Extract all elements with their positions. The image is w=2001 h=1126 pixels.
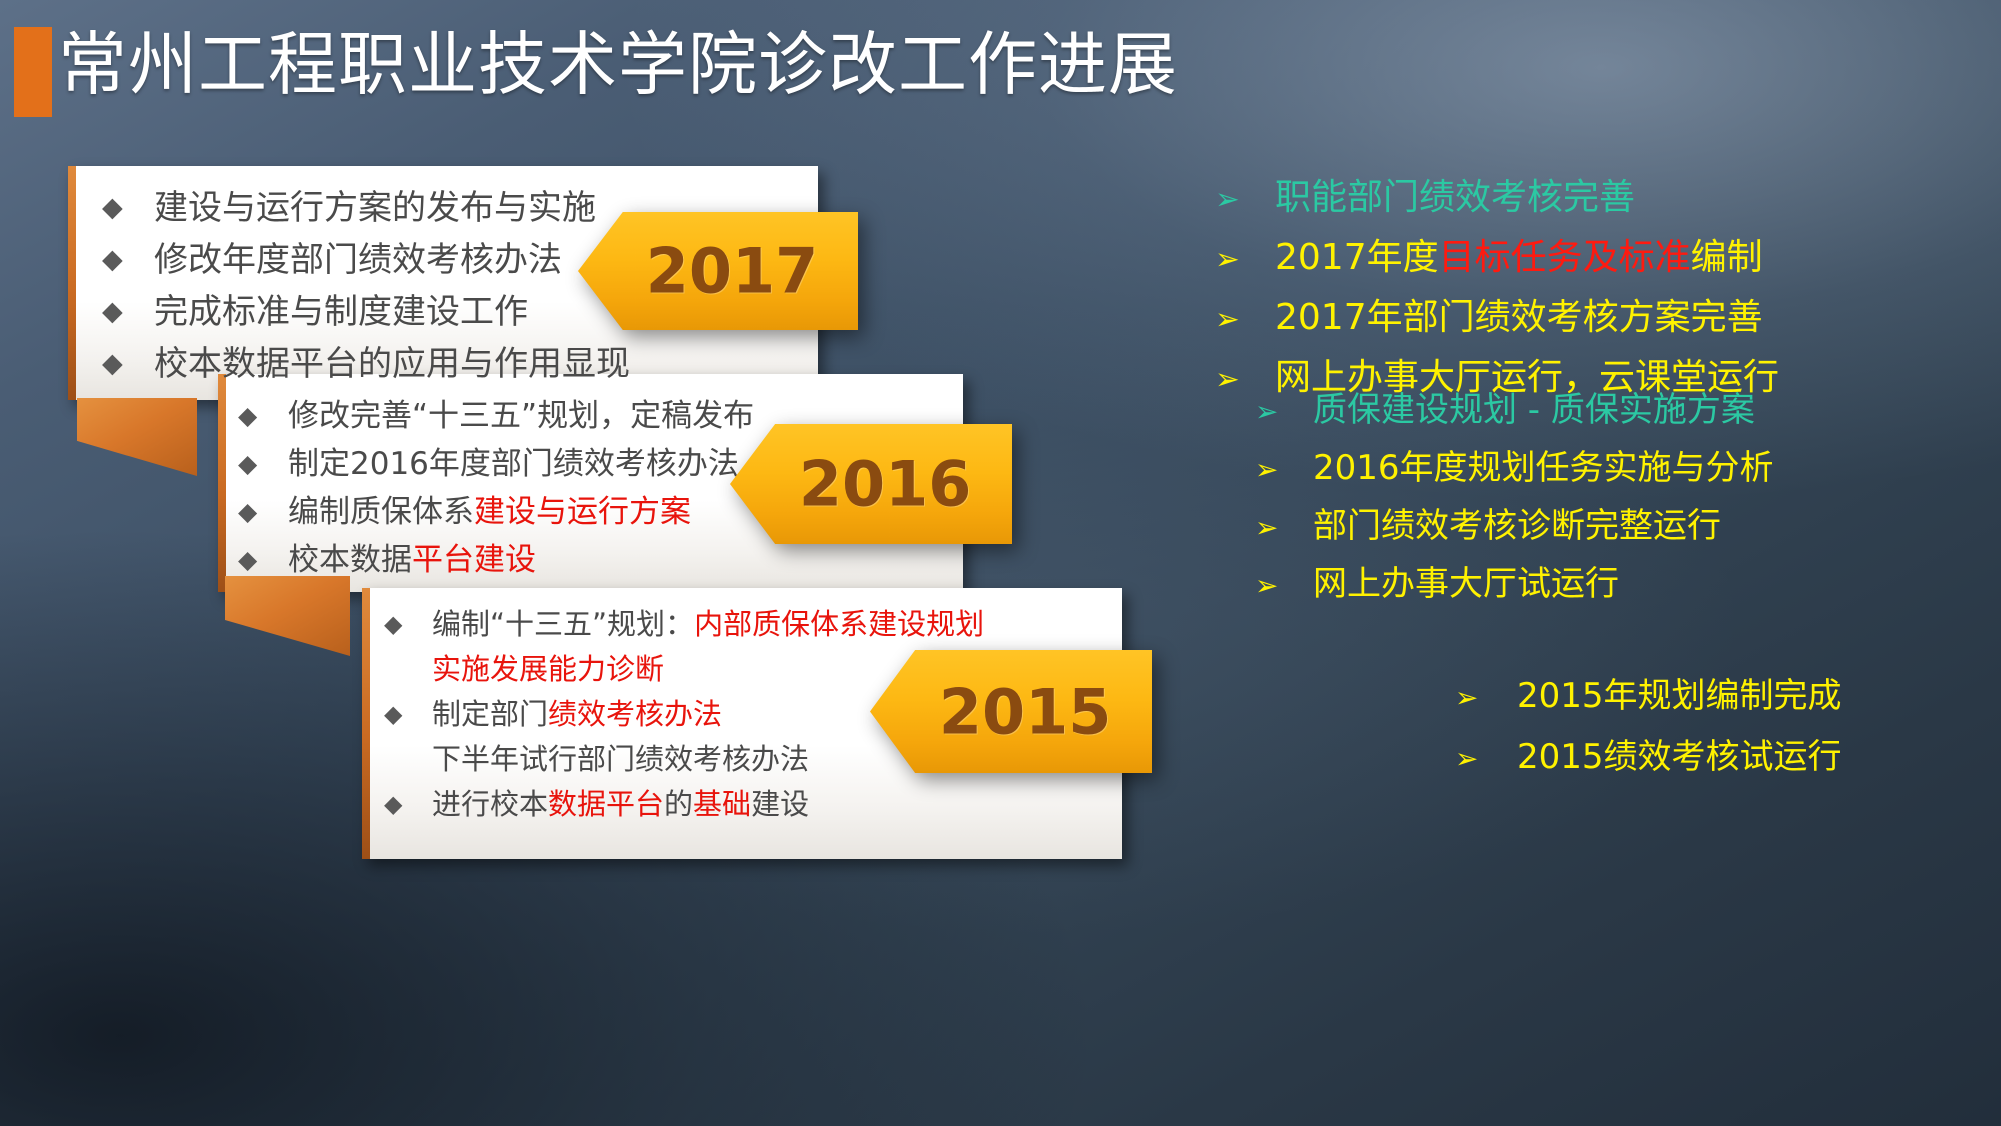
list-item-label: 建设与运行方案的发布与实施 [154, 182, 596, 234]
year-tag-2015-shape: 2015 [870, 650, 1152, 773]
list-item-label-emphasis: 实施发展能力诊断 [432, 647, 664, 692]
diamond-bullet-icon: ◆ [238, 536, 288, 584]
list-item-label: 制定2016年度部门绩效考核办法 [288, 440, 739, 488]
list-item-label: 网上办事大厅试运行 [1313, 557, 1619, 611]
list-item-label-emphasis: 目标任务及标准 [1439, 230, 1691, 286]
diamond-bullet-icon: ◆ [102, 234, 154, 286]
list-item: ➢ 质保建设规划 - 质保实施方案 [1255, 383, 2001, 437]
list-item-label: 2017年度 [1275, 230, 1439, 286]
list-item: ➢ 2015绩效考核试运行 [1455, 729, 2001, 786]
list-item-label: 部门绩效考核诊断完整运行 [1313, 499, 1721, 553]
list-item-label-emphasis: 绩效考核办法 [548, 692, 722, 737]
arrow-bullet-icon: ➢ [1215, 305, 1275, 335]
list-item-label: 编制质保体系 [288, 488, 474, 536]
arrow-bullet-icon: ➢ [1255, 398, 1313, 426]
diamond-bullet-icon: ◆ [102, 286, 154, 338]
list-item-label: 进行校本 [432, 782, 548, 827]
list-item: ➢ 职能部门绩效考核完善 [1215, 170, 2001, 226]
list-item: ➢ 网上办事大厅试运行 [1255, 557, 2001, 611]
arrow-bullet-icon: ➢ [1215, 185, 1275, 215]
year-tag-2015[interactable]: 2015 [870, 650, 1152, 773]
list-item-label: 校本数据 [288, 536, 412, 584]
right-group-2015: ➢ 2015年规划编制完成 ➢ 2015绩效考核试运行 [1455, 668, 2001, 790]
right-group-2017: ➢ 职能部门绩效考核完善 ➢ 2017年度目标任务及标准编制 ➢ 2017年部门… [1215, 170, 2001, 410]
list-item-label: 修改年度部门绩效考核办法 [154, 234, 562, 286]
year-tag-2017-label: 2017 [578, 235, 858, 308]
list-item: ➢ 部门绩效考核诊断完整运行 [1255, 499, 2001, 553]
list-item: ➢ 2017年度目标任务及标准编制 [1215, 230, 2001, 286]
list-item-label: 编制 [1691, 230, 1763, 286]
list-item: ➢ 2016年度规划任务实施与分析 [1255, 441, 2001, 495]
diamond-bullet-icon: ◆ [238, 392, 288, 440]
diamond-bullet-icon: ◆ [384, 602, 432, 647]
list-item-label: 建设 [751, 782, 809, 827]
list-item: ➢ 2017年部门绩效考核方案完善 [1215, 290, 2001, 346]
year-tag-2017-shape: 2017 [578, 212, 858, 330]
list-item-label: 2017年部门绩效考核方案完善 [1275, 290, 1763, 346]
arrow-bullet-icon: ➢ [1255, 572, 1313, 600]
list-item-label: 职能部门绩效考核完善 [1275, 170, 1635, 226]
list-item-label: 质保建设规划 - 质保实施方案 [1313, 383, 1755, 437]
list-item-label-emphasis: 基础 [693, 782, 751, 827]
card-2017-edge [68, 166, 76, 400]
year-tag-2016[interactable]: 2016 [730, 424, 1012, 544]
list-item-label: 完成标准与制度建设工作 [154, 286, 528, 338]
card-2016-edge [218, 374, 226, 592]
diamond-bullet-icon: ◆ [384, 782, 432, 827]
card-2015-edge [362, 588, 370, 859]
list-item: ◆ 编制“十三五”规划：内部质保体系建设规划 [384, 602, 1116, 647]
year-tag-2015-label: 2015 [870, 675, 1152, 748]
arrow-bullet-icon: ➢ [1255, 514, 1313, 542]
list-item-label-emphasis: 建设与运行方案 [474, 488, 691, 536]
diamond-bullet-icon: ◆ [384, 692, 432, 737]
arrow-bullet-icon: ➢ [1255, 456, 1313, 484]
fold-corner-2017 [77, 398, 197, 476]
title-accent-bar [14, 27, 52, 117]
list-item-label: 2015绩效考核试运行 [1517, 729, 1842, 786]
list-item-label: 下半年试行部门绩效考核办法 [432, 737, 809, 782]
list-item-label: 编制“十三五”规划： [432, 602, 694, 647]
list-item-label-emphasis: 平台建设 [412, 536, 536, 584]
list-item-label: 制定部门 [432, 692, 548, 737]
diamond-bullet-icon: ◆ [102, 182, 154, 234]
list-item-label: 的 [664, 782, 693, 827]
year-tag-2016-label: 2016 [730, 448, 1012, 521]
list-item-label-emphasis: 数据平台 [548, 782, 664, 827]
diamond-bullet-icon: ◆ [238, 488, 288, 536]
right-group-2016: ➢ 质保建设规划 - 质保实施方案 ➢ 2016年度规划任务实施与分析 ➢ 部门… [1255, 383, 2001, 615]
diamond-bullet-icon: ◆ [238, 440, 288, 488]
list-item-label: 2016年度规划任务实施与分析 [1313, 441, 1774, 495]
list-item: ◆ 进行校本数据平台的基础建设 [384, 782, 1116, 827]
list-item: ➢ 2015年规划编制完成 [1455, 668, 2001, 725]
list-item-label: 修改完善“十三五”规划，定稿发布 [288, 392, 754, 440]
arrow-bullet-icon: ➢ [1455, 684, 1517, 712]
list-item-label: 2015年规划编制完成 [1517, 668, 1842, 725]
page-title: 常州工程职业技术学院诊改工作进展 [58, 15, 1178, 115]
year-tag-2017[interactable]: 2017 [578, 212, 858, 330]
list-item-label: 校本数据平台的应用与作用显现 [154, 338, 630, 390]
fold-corner-2016 [225, 576, 350, 656]
arrow-bullet-icon: ➢ [1455, 745, 1517, 773]
year-tag-2016-shape: 2016 [730, 424, 1012, 544]
diamond-bullet-icon: ◆ [102, 338, 154, 390]
arrow-bullet-icon: ➢ [1215, 245, 1275, 275]
list-item: ◆ 校本数据平台的应用与作用显现 [102, 338, 808, 390]
list-item-label-emphasis: 内部质保体系建设规划 [694, 602, 984, 647]
